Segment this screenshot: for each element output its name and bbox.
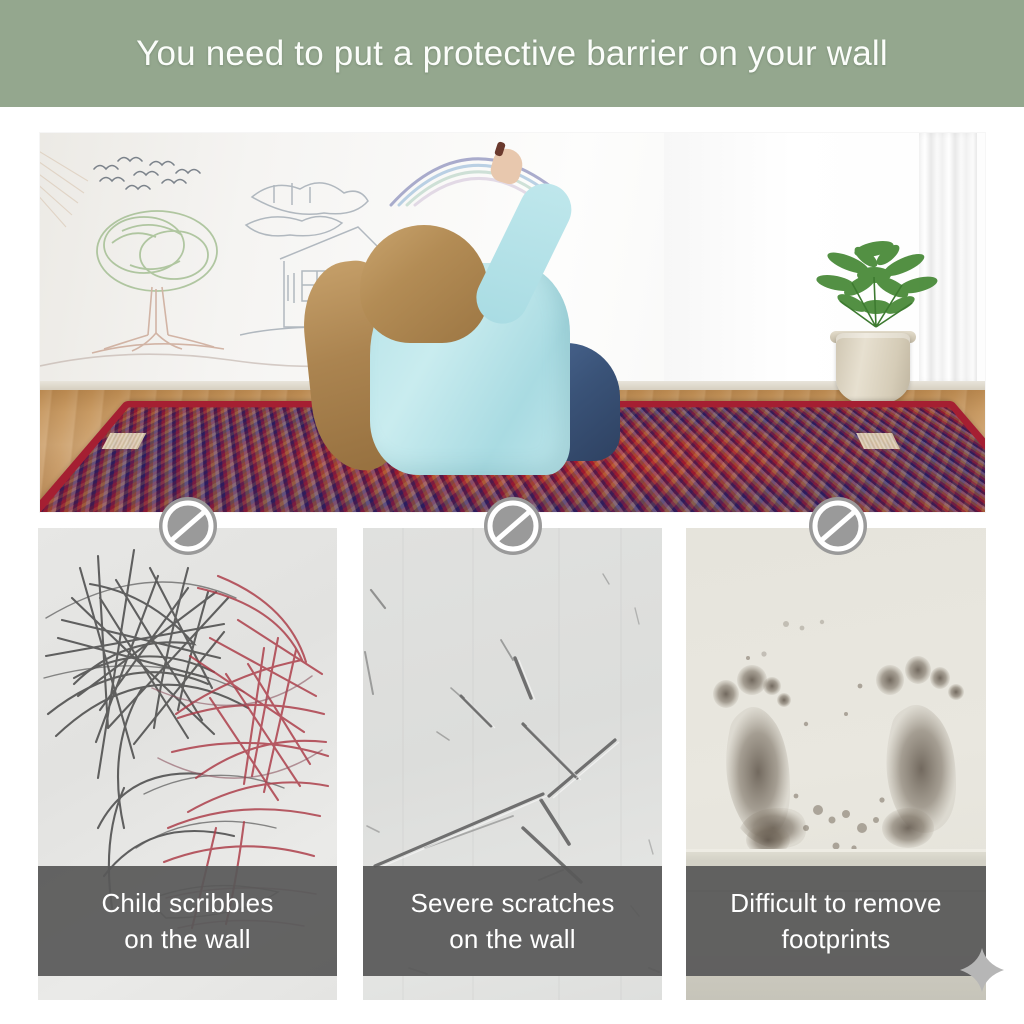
caption-line-1: Child scribbles [101,885,273,921]
page-title: You need to put a protective barrier on … [136,34,888,74]
caption-scratches: Severe scratches on the wall [363,866,662,976]
prohibition-badge-2 [482,495,544,557]
no-entry-icon [157,495,219,557]
prohibition-badge-1 [157,495,219,557]
crayon-birds-drawing [88,153,208,198]
caption-footprints: Difficult to remove footprints [686,866,986,976]
crayon-tree-drawing [82,203,232,358]
damage-examples-grid: Child scribbles on the wall [38,528,986,1000]
child-head [360,225,488,343]
rug-fringe-right [856,433,900,449]
prohibition-badge-3 [807,495,869,557]
caption-line-2: footprints [782,921,891,957]
caption-line-1: Difficult to remove [730,885,941,921]
caption-line-1: Severe scratches [410,885,614,921]
panel-scratches[interactable]: Severe scratches on the wall [363,528,662,1000]
caption-line-2: on the wall [449,921,576,957]
no-entry-icon [482,495,544,557]
panel-footprints[interactable]: Difficult to remove footprints [686,528,986,1000]
caption-scribbles: Child scribbles on the wall [38,866,337,976]
caption-line-2: on the wall [124,921,251,957]
potted-plant [800,223,950,343]
no-entry-icon [807,495,869,557]
panel-scribbles[interactable]: Child scribbles on the wall [38,528,337,1000]
header-banner: You need to put a protective barrier on … [0,0,1024,107]
hero-photo [40,133,985,512]
plant-pot [836,333,910,405]
